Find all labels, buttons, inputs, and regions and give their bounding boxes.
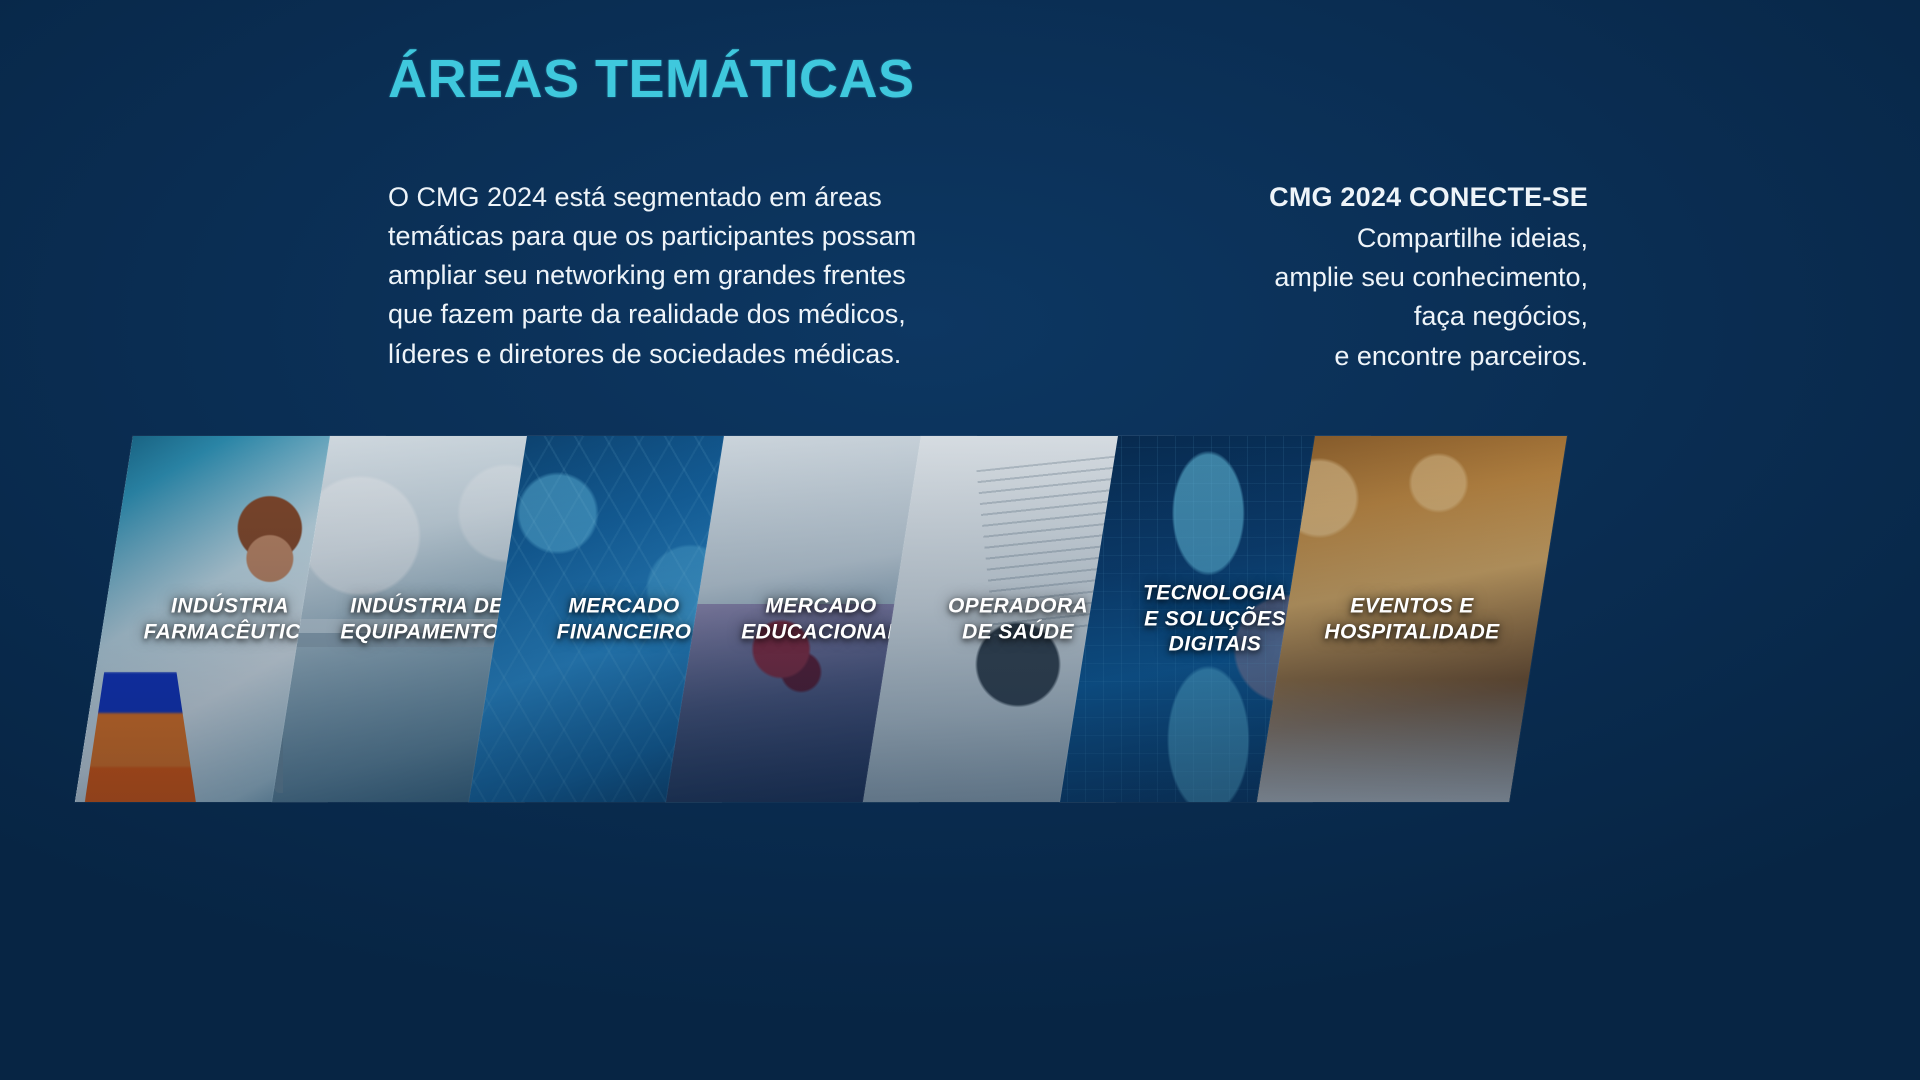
intro-section: O CMG 2024 está segmentado em áreas temá… [388,178,1588,376]
intro-right-lead: CMG 2024 CONECTE-SE [1168,178,1588,217]
intro-left-line: líderes e diretores de sociedades médica… [388,335,1078,374]
intro-right-paragraph: CMG 2024 CONECTE-SE Compartilhe ideias, … [1168,178,1588,376]
card-label-line: HOSPITALIDADE [1296,619,1528,645]
card-label: EVENTOS E HOSPITALIDADE [1286,593,1538,644]
intro-left-paragraph: O CMG 2024 está segmentado em áreas temá… [388,178,1078,374]
intro-left-line: O CMG 2024 está segmentado em áreas [388,178,1078,217]
intro-right-line: Compartilhe ideias, [1168,219,1588,258]
intro-left-line: ampliar seu networking em grandes frente… [388,256,1078,295]
intro-right-line: faça negócios, [1168,297,1588,336]
intro-right-line: e encontre parceiros. [1168,337,1588,376]
slide-root: ÁREAS TEMÁTICAS O CMG 2024 está segmenta… [0,0,1920,1080]
thematic-areas-strip: INDÚSTRIA FARMACÊUTICA INDÚSTRIA DE EQUI… [0,436,1920,802]
intro-left-line: temáticas para que os participantes poss… [388,217,1078,256]
card-label-line: EVENTOS E [1296,593,1528,619]
page-title: ÁREAS TEMÁTICAS [388,48,915,110]
intro-left-line: que fazem parte da realidade dos médicos… [388,295,1078,334]
intro-right-line: amplie seu conhecimento, [1168,258,1588,297]
